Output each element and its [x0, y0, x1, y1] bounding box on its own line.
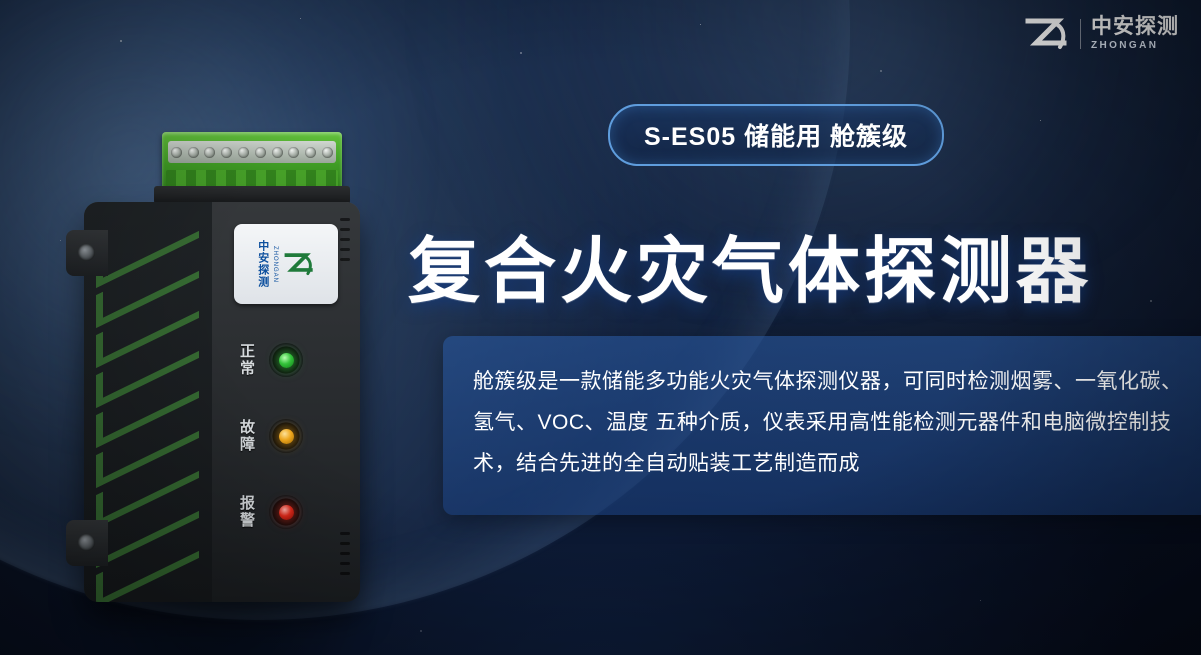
brand-divider: [1080, 19, 1081, 49]
device-indicator-group: 正常 故障 报警: [236, 322, 356, 550]
poster-canvas: 中安探测 ZHONGAN: [0, 0, 1201, 655]
product-description-text: 舱簇级是一款储能多功能火灾气体探测仪器，可同时检测烟雾、一氧化碳、氢气、VOC、…: [473, 362, 1185, 485]
page-title: 复合火灾气体探测器: [408, 212, 1188, 317]
device-label-plate: 中安探测 ZHONGAN: [234, 224, 338, 304]
mounting-ear-bottom: [66, 520, 108, 566]
device-body: 中安探测 ZHONGAN 正常 故障 报警: [84, 202, 360, 602]
device-plate-name-en: ZHONGAN: [272, 246, 278, 283]
green-terminal-block: [162, 132, 342, 192]
device-plate-zn-icon: [282, 249, 316, 279]
indicator-alarm-label: 报警: [236, 495, 257, 529]
terminal-screw-row: [168, 141, 336, 163]
indicator-normal: 正常: [236, 322, 356, 398]
device-plate-name-cn: 中安探测: [256, 240, 268, 288]
brand-name-en: ZHONGAN: [1091, 41, 1179, 51]
brand-name-cn: 中安探测: [1091, 16, 1179, 37]
indicator-normal-led: [269, 343, 303, 377]
product-description-panel: 舱簇级是一款储能多功能火灾气体探测仪器，可同时检测烟雾、一氧化碳、氢气、VOC、…: [443, 336, 1201, 515]
indicator-alarm: 报警: [236, 474, 356, 550]
indicator-fault-led: [269, 419, 303, 453]
product-device-image: 中安探测 ZHONGAN 正常 故障 报警: [62, 118, 392, 618]
indicator-alarm-led: [269, 495, 303, 529]
indicator-fault-label: 故障: [236, 419, 257, 453]
brand-logo: 中安探测 ZHONGAN: [1024, 16, 1179, 51]
mounting-ear-top: [66, 230, 108, 276]
indicator-normal-label: 正常: [236, 343, 257, 377]
indicator-fault: 故障: [236, 398, 356, 474]
zn-mark-icon: [1024, 17, 1070, 51]
product-badge: S-ES05 储能用 舱簇级: [608, 104, 944, 166]
